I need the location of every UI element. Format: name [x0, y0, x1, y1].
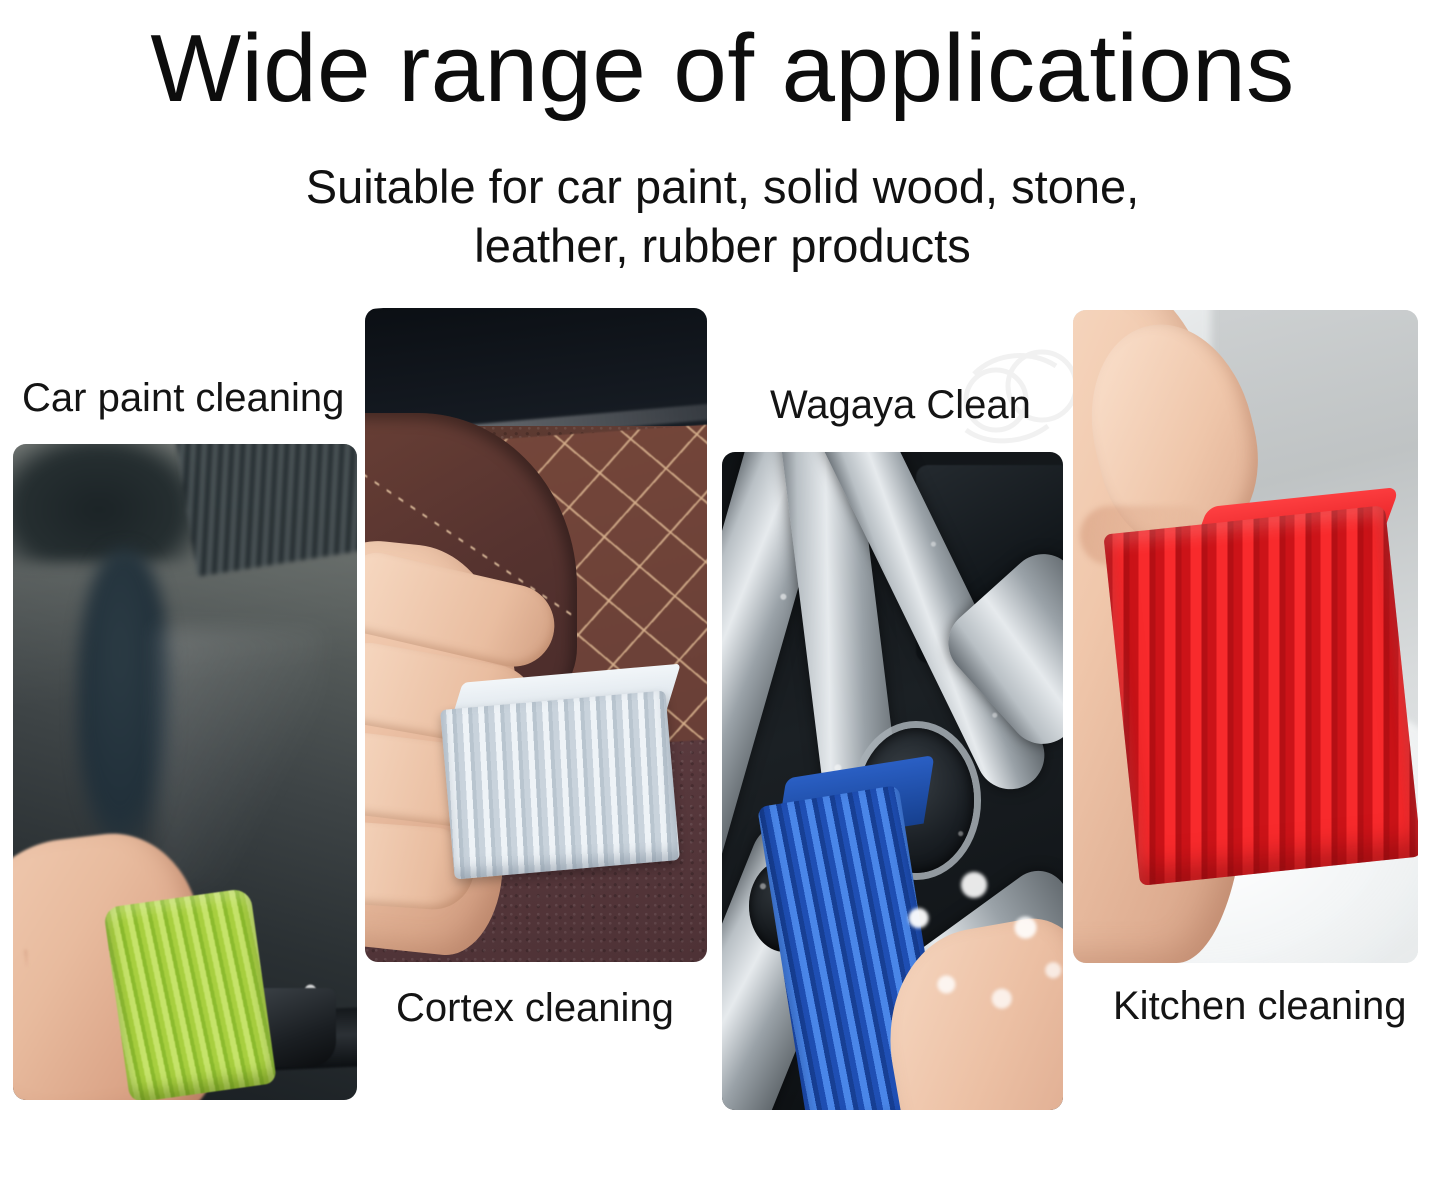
- photo-panel-kitchen: [1073, 310, 1418, 963]
- page-subtitle: Suitable for car paint, solid wood, ston…: [0, 158, 1445, 276]
- scene-kitchen: [1073, 310, 1418, 963]
- scene-wheel: [722, 452, 1063, 1110]
- panel-caption-wagaya: Wagaya Clean: [770, 385, 1031, 425]
- panel-caption-car-paint: Car paint cleaning: [22, 378, 344, 418]
- photo-panel-wheel: [722, 452, 1063, 1110]
- scene-car-paint: [13, 444, 357, 1100]
- application-poster: Wide range of applications Suitable for …: [0, 0, 1445, 1188]
- soap-foam: [879, 847, 1063, 1084]
- scene-cortex: [365, 308, 707, 962]
- subtitle-line-2: leather, rubber products: [0, 217, 1445, 276]
- panel-caption-cortex: Cortex cleaning: [396, 988, 674, 1028]
- gray-sponge: [440, 691, 680, 880]
- page-title: Wide range of applications: [0, 18, 1445, 120]
- photo-panel-cortex: [365, 308, 707, 962]
- subtitle-line-1: Suitable for car paint, solid wood, ston…: [0, 158, 1445, 217]
- green-sponge: [103, 887, 277, 1100]
- photo-panel-car-paint: [13, 444, 357, 1100]
- hood-reflection-top: [13, 444, 206, 562]
- red-sponge: [1104, 505, 1418, 885]
- paint-sheen: [157, 628, 322, 890]
- panel-caption-kitchen: Kitchen cleaning: [1113, 986, 1407, 1026]
